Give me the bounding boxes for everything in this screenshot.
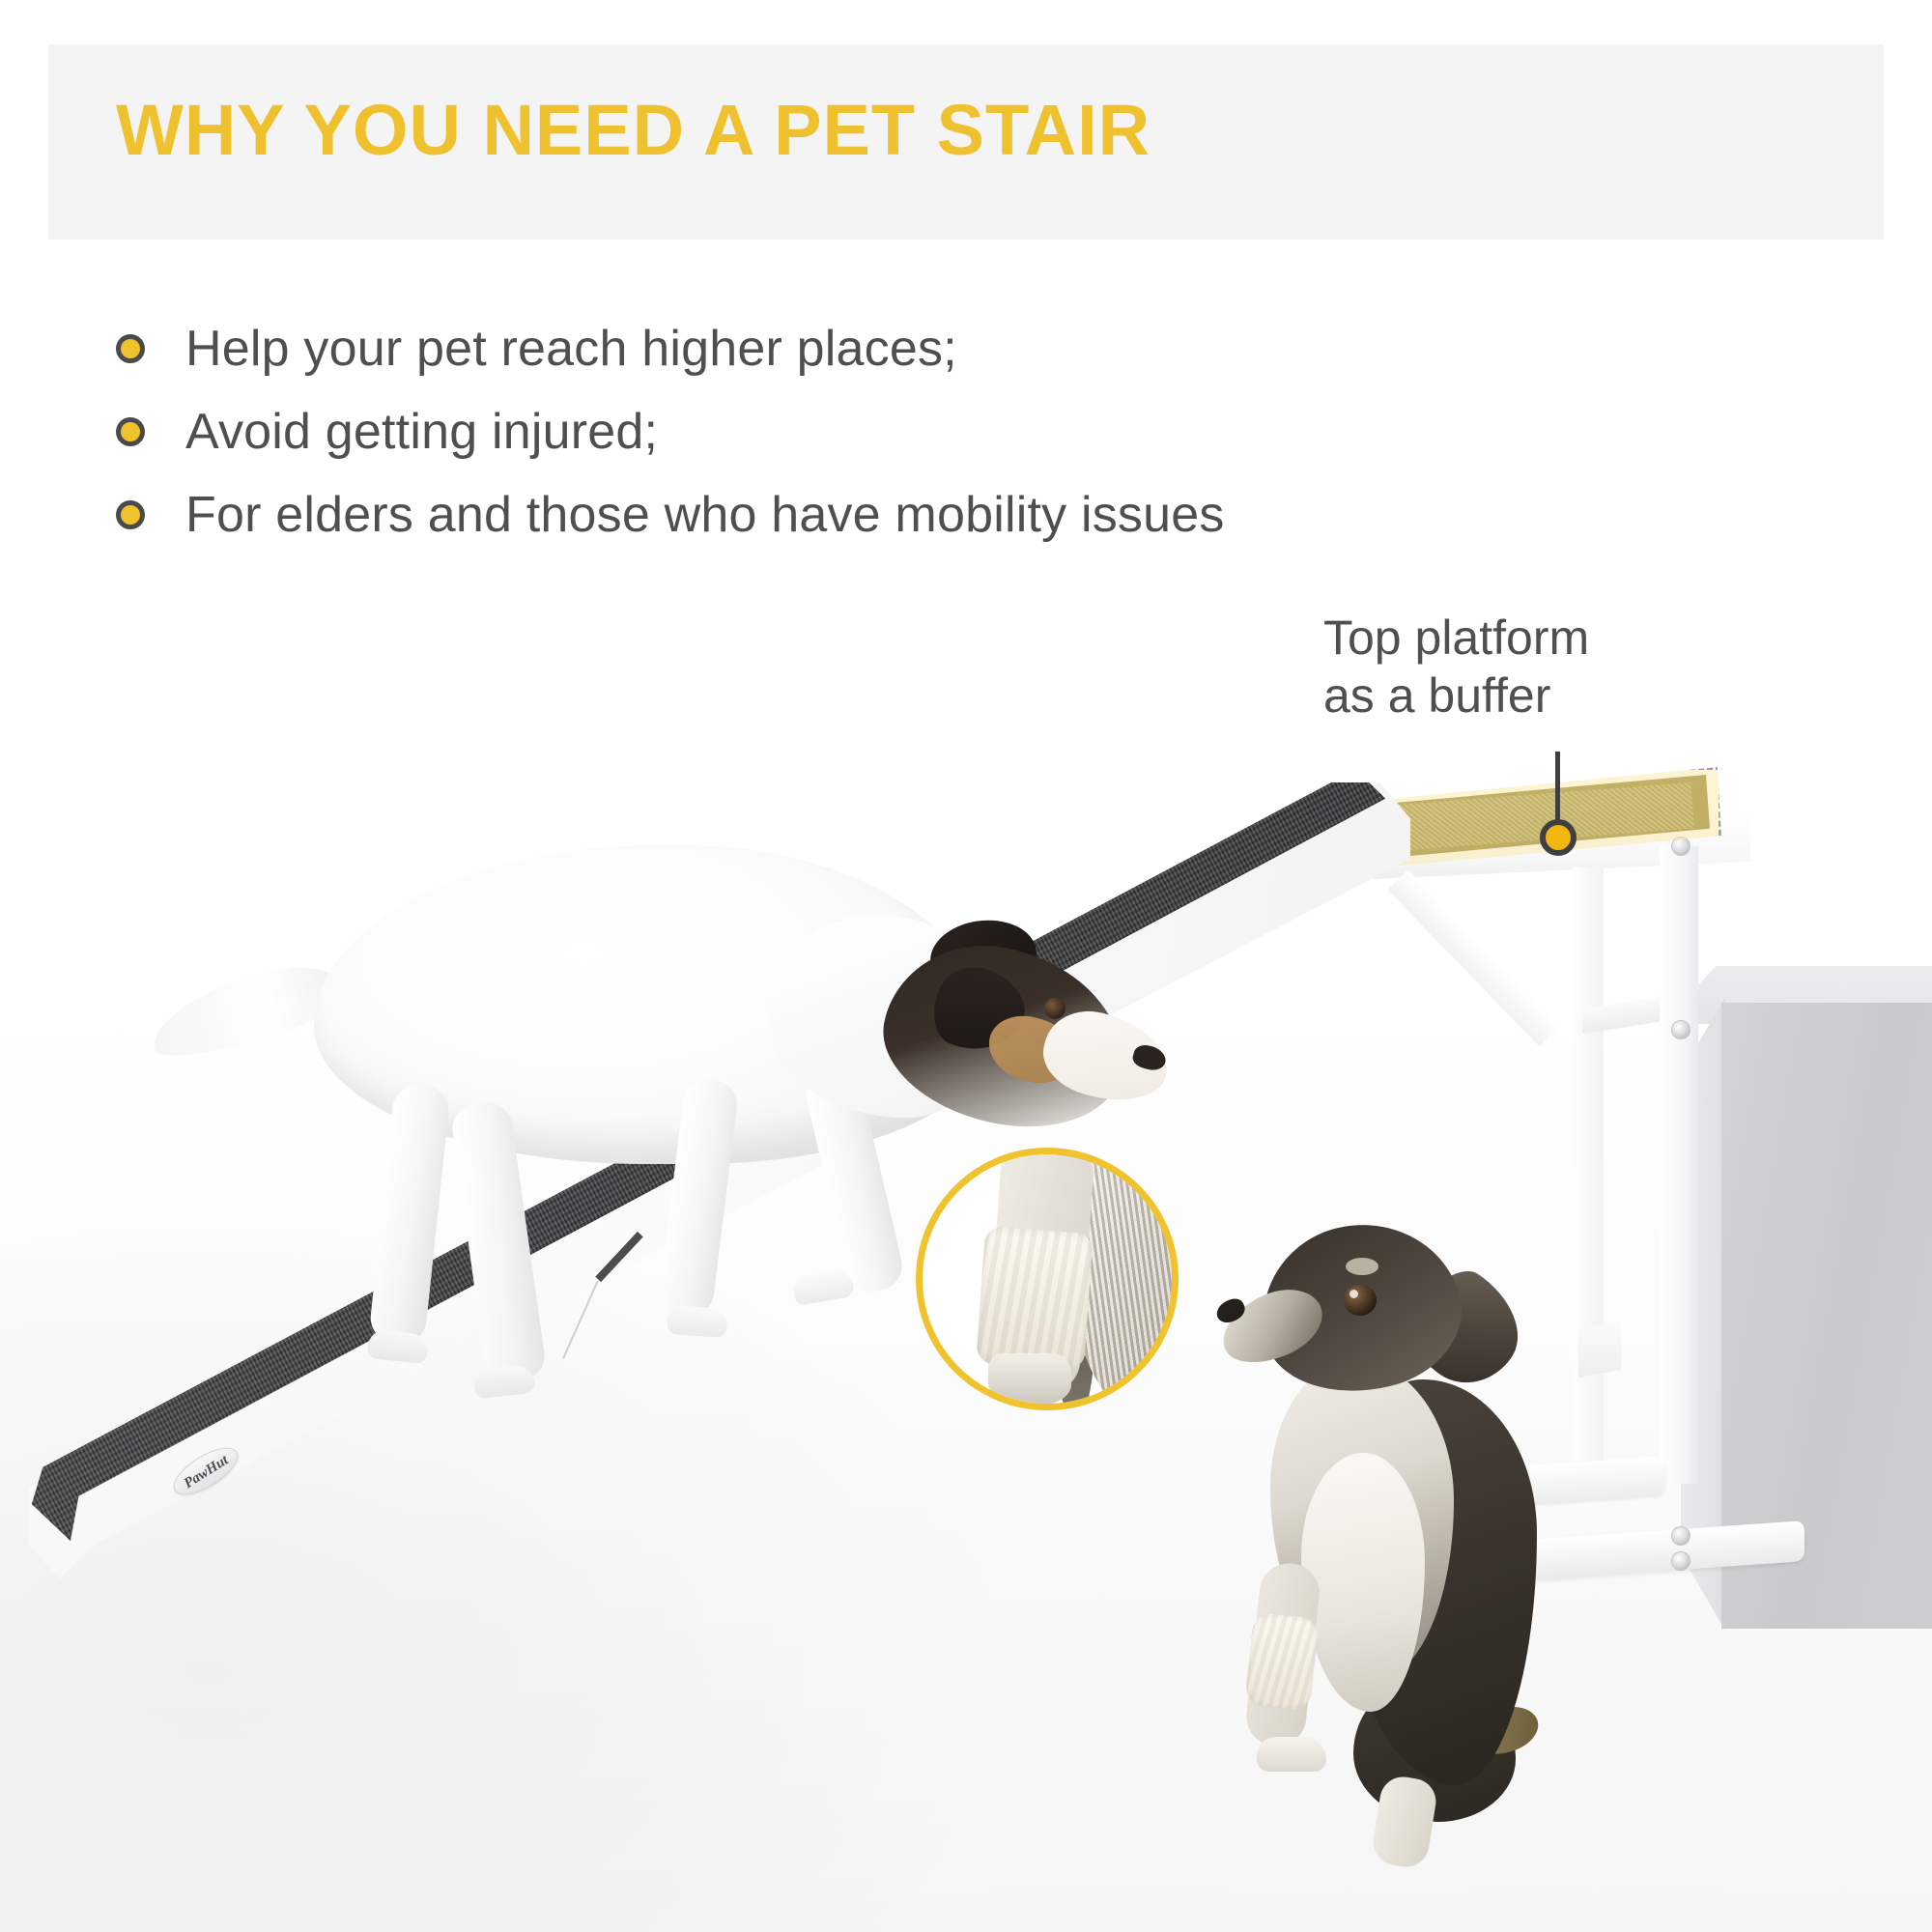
chihuahua-brow-marking [1346,1258,1378,1275]
dog-paw [473,1364,536,1399]
chihuahua-front-paw [1257,1737,1326,1772]
callout-marker-dot [1540,819,1577,856]
dog-paw [667,1305,728,1338]
chihuahua-eye [1344,1285,1377,1316]
chihuahua-leg-bandage [1244,1612,1320,1712]
infographic-canvas: WHY YOU NEED A PET STAIR Help your pet r… [0,0,1932,1932]
inset-paw [988,1353,1071,1406]
dog-sitting [1212,1225,1531,1843]
chihuahua-white-bib [1301,1453,1425,1712]
callout-top-platform: Top platform as a buffer [1323,609,1589,724]
dog-on-ramp [92,826,1058,1444]
dog-paw [791,1267,855,1306]
dog-hind-leg-far [368,1083,451,1347]
callout-label: Top platform as a buffer [1323,609,1589,724]
detail-zoom-circle [916,1148,1179,1410]
dog-layer [0,0,1932,1932]
dog-eye [1044,998,1065,1019]
inset-bandage [976,1226,1094,1370]
